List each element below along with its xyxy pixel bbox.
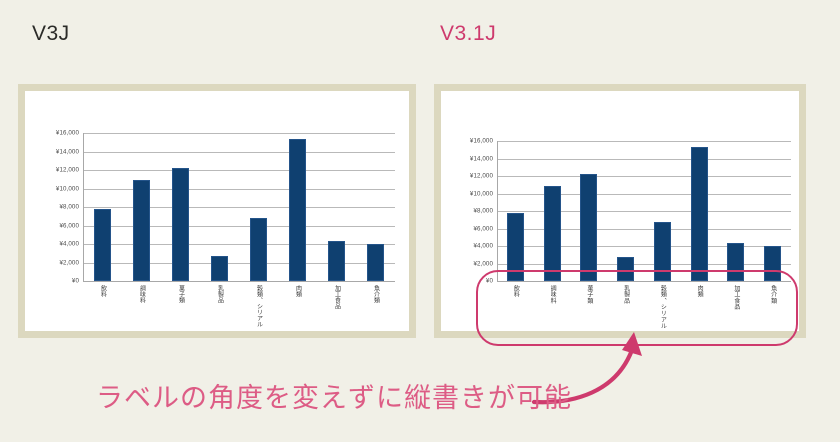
y-tick-label: ¥12,000 xyxy=(56,167,79,174)
bar-series xyxy=(497,141,791,281)
x-category-label: 乳製品 xyxy=(216,285,222,303)
annotation-label: ラベルの角度を変えずに縦書きが可能 xyxy=(96,376,572,415)
plot-area-right: ¥0¥2,000¥4,000¥6,000¥8,000¥10,000¥12,000… xyxy=(441,91,799,331)
y-tick-label: ¥4,000 xyxy=(59,241,79,248)
gridline xyxy=(83,281,395,282)
bar xyxy=(328,241,346,281)
x-category-label: 菓子類 xyxy=(586,285,592,304)
chart-panel-right: ¥0¥2,000¥4,000¥6,000¥8,000¥10,000¥12,000… xyxy=(434,84,806,338)
x-category-label: 魚介類 xyxy=(770,285,776,304)
bar-series xyxy=(83,133,395,281)
y-tick-label: ¥16,000 xyxy=(56,130,79,137)
chart-panel-left: ¥0¥2,000¥4,000¥6,000¥8,000¥10,000¥12,000… xyxy=(18,84,416,338)
y-axis-tick-labels: ¥0¥2,000¥4,000¥6,000¥8,000¥10,000¥12,000… xyxy=(445,91,497,331)
x-category-label: 肉類 xyxy=(294,285,300,297)
bar xyxy=(580,174,597,281)
y-tick-label: ¥10,000 xyxy=(56,185,79,192)
gridline xyxy=(497,281,791,282)
y-tick-label: ¥6,000 xyxy=(59,222,79,229)
x-category-label: 肉類 xyxy=(696,285,702,298)
bar xyxy=(764,246,781,281)
x-category-label: 調味料 xyxy=(138,285,144,303)
x-category-label: 穀類、シリアル xyxy=(659,285,665,329)
bar xyxy=(133,180,151,281)
x-category-label: 加工食品 xyxy=(333,285,339,309)
y-tick-label: ¥8,000 xyxy=(473,208,493,215)
x-category-label: 飲料 xyxy=(99,285,105,297)
y-tick-label: ¥14,000 xyxy=(470,155,493,162)
bar-chart-left: ¥0¥2,000¥4,000¥6,000¥8,000¥10,000¥12,000… xyxy=(25,91,409,331)
bar xyxy=(367,244,385,281)
bar-chart-right: ¥0¥2,000¥4,000¥6,000¥8,000¥10,000¥12,000… xyxy=(441,91,799,331)
y-tick-label: ¥2,000 xyxy=(59,259,79,266)
y-tick-label: ¥16,000 xyxy=(470,138,493,145)
bar xyxy=(617,257,634,281)
x-category-label: 魚介類 xyxy=(372,285,378,303)
bar xyxy=(211,256,229,281)
y-axis-tick-labels: ¥0¥2,000¥4,000¥6,000¥8,000¥10,000¥12,000… xyxy=(31,91,83,331)
x-category-label: 飲料 xyxy=(512,285,518,298)
x-category-label: 穀類、シリアル xyxy=(255,285,261,327)
plot-area-left: ¥0¥2,000¥4,000¥6,000¥8,000¥10,000¥12,000… xyxy=(25,91,409,331)
bar xyxy=(250,218,268,281)
bar xyxy=(691,147,708,281)
bar xyxy=(654,222,671,282)
y-tick-label: ¥4,000 xyxy=(473,243,493,250)
y-tick-label: ¥10,000 xyxy=(470,190,493,197)
x-category-label: 加工食品 xyxy=(733,285,739,310)
page-root: V3J V3.1J ¥0¥2,000¥4,000¥6,000¥8,000¥10,… xyxy=(0,0,840,442)
y-tick-label: ¥12,000 xyxy=(470,173,493,180)
x-category-label: 乳製品 xyxy=(623,285,629,304)
y-tick-label: ¥8,000 xyxy=(59,204,79,211)
bar xyxy=(544,186,561,281)
x-category-label: 調味料 xyxy=(549,285,555,304)
bar xyxy=(507,213,524,281)
y-tick-label: ¥14,000 xyxy=(56,148,79,155)
bar xyxy=(289,139,307,281)
bar xyxy=(172,168,190,281)
y-tick-label: ¥0 xyxy=(486,278,493,285)
bar xyxy=(94,209,112,281)
y-tick-label: ¥0 xyxy=(72,278,79,285)
x-category-label: 菓子類 xyxy=(177,285,183,303)
section-title-right: V3.1J xyxy=(440,22,496,46)
y-tick-label: ¥2,000 xyxy=(473,260,493,267)
section-title-left: V3J xyxy=(32,22,70,46)
y-tick-label: ¥6,000 xyxy=(473,225,493,232)
bar xyxy=(727,243,744,281)
